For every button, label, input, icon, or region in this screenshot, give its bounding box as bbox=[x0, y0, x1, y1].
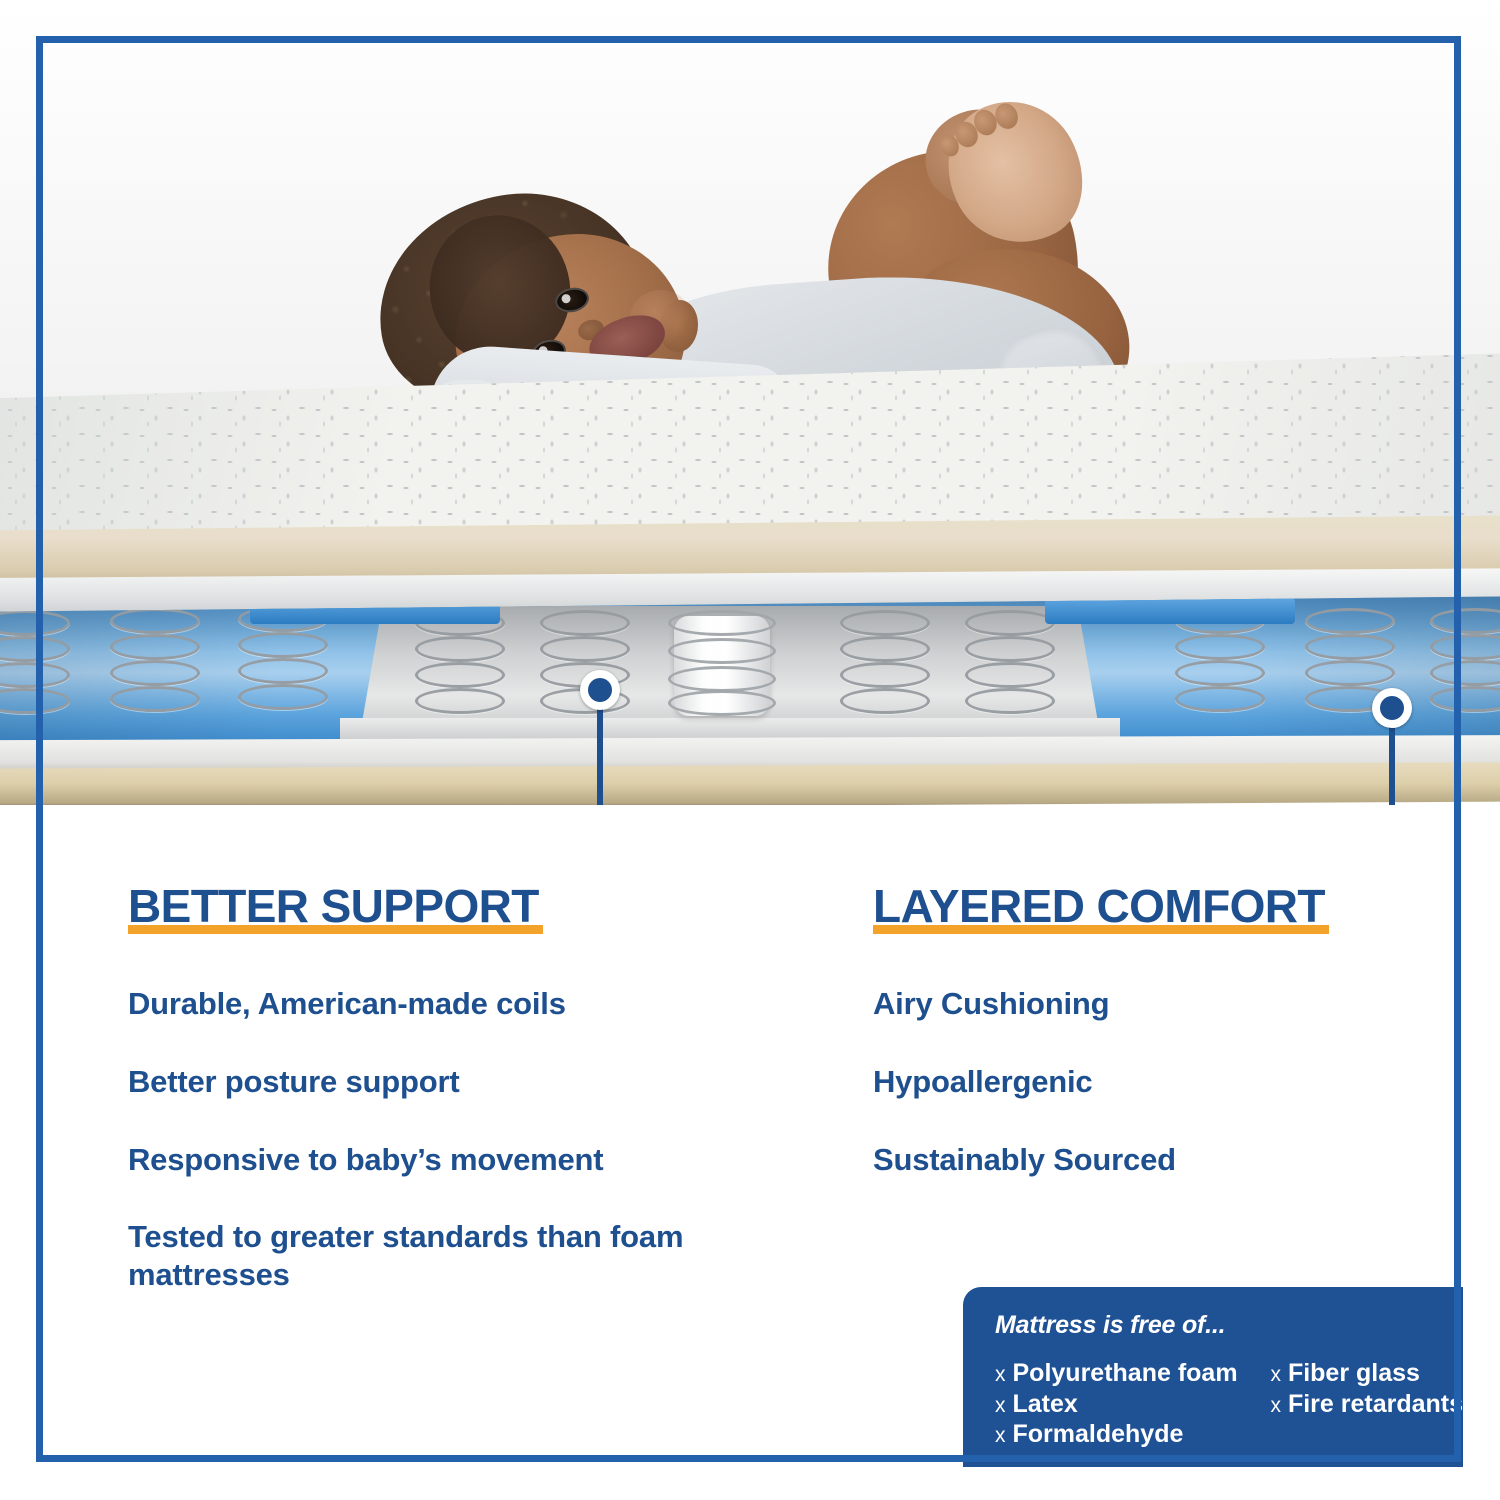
x-marker-icon: x bbox=[995, 1423, 1006, 1449]
feature-item: Better posture support bbox=[128, 1063, 728, 1101]
free-of-column-1: xPolyurethane foam xLatex xFormaldehyde bbox=[995, 1358, 1258, 1450]
coil-spring bbox=[1175, 608, 1265, 716]
feature-item: Airy Cushioning bbox=[873, 985, 1433, 1023]
innerspring-coil-cavity bbox=[0, 596, 1500, 756]
feature-item: Responsive to baby’s movement bbox=[128, 1141, 728, 1179]
free-of-columns: xPolyurethane foam xLatex xFormaldehyde … bbox=[995, 1358, 1463, 1450]
x-marker-icon: x bbox=[1270, 1362, 1281, 1388]
x-marker-icon: x bbox=[995, 1362, 1006, 1388]
coil-spring bbox=[415, 610, 505, 718]
heading-better-support: BETTER SUPPORT bbox=[128, 883, 539, 929]
free-of-callout-box: Mattress is free of... xPolyurethane foa… bbox=[963, 1287, 1463, 1467]
heading-layered-comfort: LAYERED COMFORT bbox=[873, 883, 1325, 929]
free-of-label: Polyurethane foam bbox=[1013, 1359, 1238, 1387]
coil-spring bbox=[110, 608, 200, 716]
pocketed-coil bbox=[674, 616, 770, 716]
callout-dot-layered-comfort[interactable] bbox=[1372, 688, 1412, 728]
free-of-item: xFormaldehyde bbox=[995, 1419, 1258, 1450]
free-of-title: Mattress is free of... bbox=[995, 1311, 1463, 1340]
mattress-base-tan-layer bbox=[0, 762, 1500, 805]
feature-item: Hypoallergenic bbox=[873, 1063, 1433, 1101]
x-marker-icon: x bbox=[1270, 1393, 1281, 1419]
feature-column-layered-comfort: LAYERED COMFORT Airy Cushioning Hypoalle… bbox=[873, 883, 1433, 1218]
free-of-item: xFire retardants bbox=[1270, 1389, 1463, 1420]
heading-wrap-right: LAYERED COMFORT bbox=[873, 883, 1433, 929]
infographic-stage: BETTER SUPPORT Durable, American-made co… bbox=[0, 0, 1500, 1500]
free-of-label: Fiber glass bbox=[1288, 1359, 1420, 1387]
free-of-label: Formaldehyde bbox=[1013, 1420, 1184, 1448]
feature-column-better-support: BETTER SUPPORT Durable, American-made co… bbox=[128, 883, 728, 1294]
free-of-label: Latex bbox=[1013, 1390, 1078, 1418]
feature-item: Sustainably Sourced bbox=[873, 1141, 1433, 1179]
coil-spring bbox=[840, 610, 930, 718]
callout-dot-better-support[interactable] bbox=[580, 670, 620, 710]
free-of-column-2: xFiber glass xFire retardants bbox=[1270, 1358, 1463, 1450]
heading-wrap-left: BETTER SUPPORT bbox=[128, 883, 728, 929]
coil-spring bbox=[965, 610, 1055, 718]
free-of-label: Fire retardants bbox=[1288, 1390, 1463, 1418]
feature-item: Tested to greater standards than foam ma… bbox=[128, 1218, 728, 1294]
free-of-item: xFiber glass bbox=[1270, 1358, 1463, 1389]
x-marker-icon: x bbox=[995, 1393, 1006, 1419]
free-of-item: xPolyurethane foam bbox=[995, 1358, 1258, 1389]
comfort-layer-rail-right bbox=[1045, 598, 1295, 624]
feature-item: Durable, American-made coils bbox=[128, 985, 728, 1023]
free-of-item: xLatex bbox=[995, 1389, 1258, 1420]
coil-spring bbox=[1430, 608, 1500, 716]
product-photo bbox=[0, 0, 1500, 805]
coil-spring bbox=[0, 610, 70, 718]
